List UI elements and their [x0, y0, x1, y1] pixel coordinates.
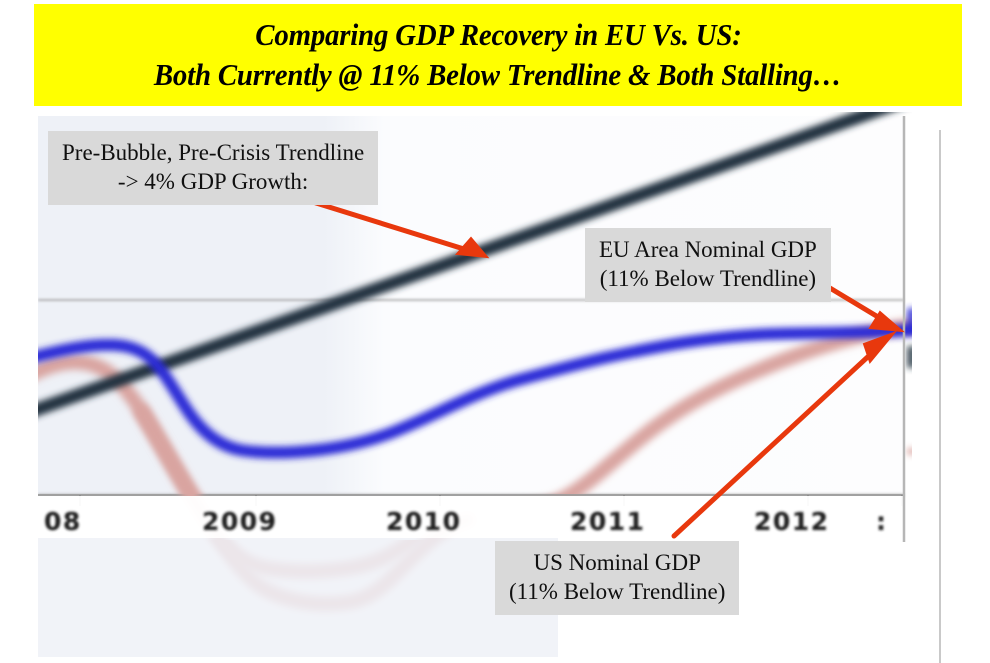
- x-tick-label: 2012: [754, 507, 830, 536]
- callout-line-2: (11% Below Trendline): [509, 577, 725, 606]
- x-tick-label: 08: [44, 507, 82, 536]
- x-tick-label: 2009: [202, 507, 278, 536]
- callout-us-nominal-gdp: US Nominal GDP (11% Below Trendline): [495, 541, 739, 615]
- callout-line-2: (11% Below Trendline): [599, 264, 817, 293]
- x-tick-label: 2010: [386, 507, 462, 536]
- x-tick-label-partial: :: [876, 507, 888, 536]
- lower-shading: [38, 538, 558, 657]
- callout-line-1: EU Area Nominal GDP: [599, 235, 817, 264]
- callout-line-1: Pre-Bubble, Pre-Crisis Trendline: [62, 138, 364, 167]
- title-line-1: Comparing GDP Recovery in EU Vs. US:: [255, 15, 741, 55]
- x-tick-label: 2011: [570, 507, 646, 536]
- callout-line-2: -> 4% GDP Growth:: [62, 167, 364, 196]
- callout-eu-nominal-gdp: EU Area Nominal GDP (11% Below Trendline…: [585, 228, 831, 302]
- slide-root: Comparing GDP Recovery in EU Vs. US: Bot…: [0, 0, 990, 663]
- callout-pre-crisis-trendline: Pre-Bubble, Pre-Crisis Trendline -> 4% G…: [48, 131, 378, 205]
- callout-line-1: US Nominal GDP: [509, 548, 725, 577]
- right-vertical-rule: [939, 130, 941, 663]
- title-banner: Comparing GDP Recovery in EU Vs. US: Bot…: [34, 4, 962, 106]
- title-line-2: Both Currently @ 11% Below Trendline & B…: [154, 55, 842, 95]
